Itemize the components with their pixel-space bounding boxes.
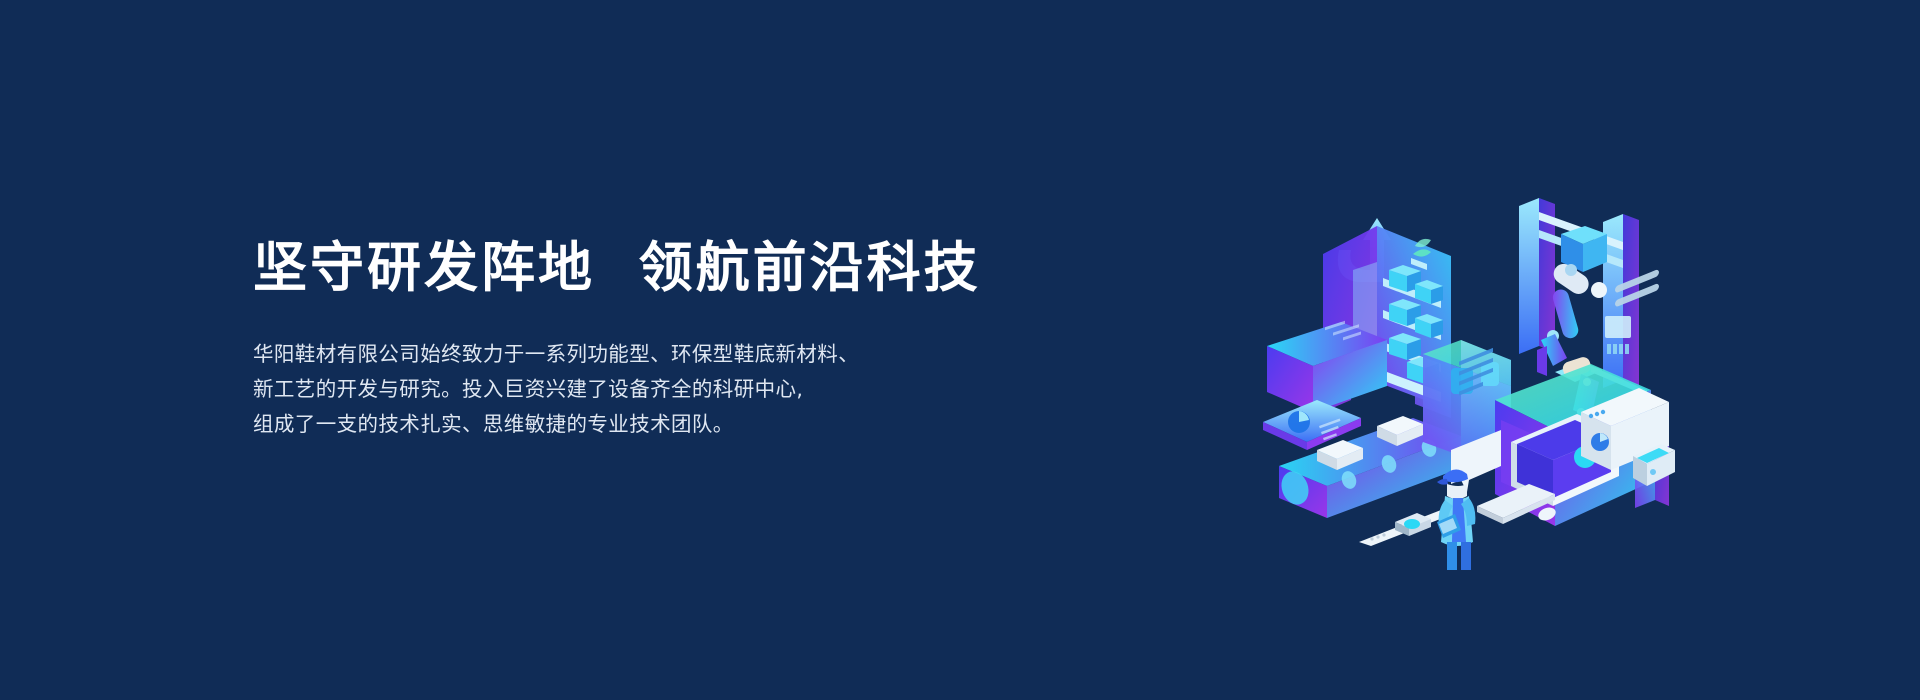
hero-description: 华阳鞋材有限公司始终致力于一系列功能型、环保型鞋底新材料、 新工艺的开发与研究。… <box>253 337 1073 443</box>
hero-banner: 坚守研发阵地 领航前沿科技 华阳鞋材有限公司始终致力于一系列功能型、环保型鞋底新… <box>0 0 1920 700</box>
worker-figure <box>1437 469 1476 570</box>
description-line-2: 新工艺的开发与研究。投入巨资兴建了设备齐全的科研中心, <box>253 372 1073 407</box>
hero-text-block: 坚守研发阵地 领航前沿科技 华阳鞋材有限公司始终致力于一系列功能型、环保型鞋底新… <box>253 240 1073 442</box>
isometric-smart-factory-illustration <box>1255 150 1675 570</box>
page-title: 坚守研发阵地 领航前沿科技 <box>253 240 1073 297</box>
description-line-3: 组成了一支的技术扎实、思维敏捷的专业技术团队。 <box>253 407 1073 442</box>
server-module-box <box>1267 321 1387 412</box>
description-line-1: 华阳鞋材有限公司始终致力于一系列功能型、环保型鞋底新材料、 <box>253 337 1073 372</box>
